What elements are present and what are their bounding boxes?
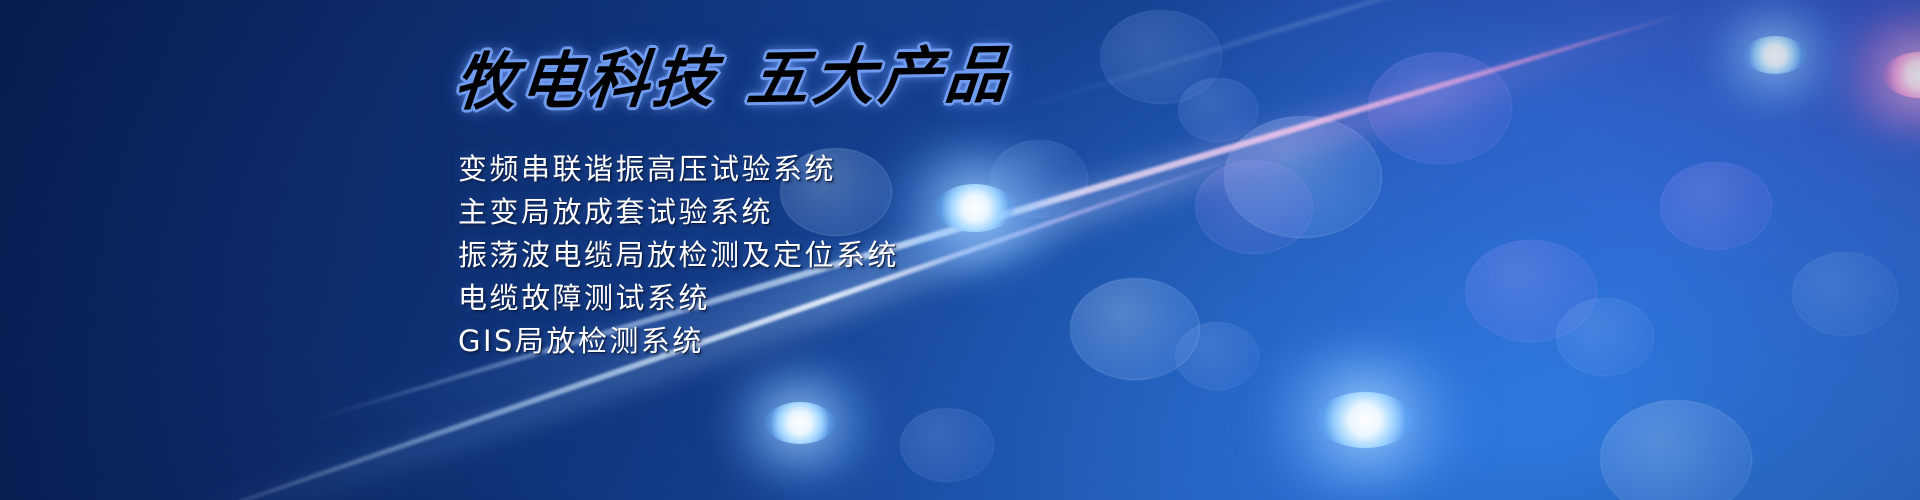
product-list: 变频串联谐振高压试验系统 主变局放成套试验系统 振荡波电缆局放检测及定位系统 电… — [458, 148, 899, 363]
product-list-item[interactable]: 电缆故障测试系统 — [458, 277, 899, 320]
product-list-item[interactable]: 变频串联谐振高压试验系统 — [458, 148, 899, 191]
banner-content: 牧电科技五大产品 变频串联谐振高压试验系统 主变局放成套试验系统 振荡波电缆局放… — [0, 0, 1920, 500]
headline-part-subject: 五大产品 — [744, 38, 1015, 115]
banner-headline: 牧电科技五大产品 — [452, 44, 1014, 114]
product-list-item[interactable]: 振荡波电缆局放检测及定位系统 — [458, 234, 899, 277]
product-list-item[interactable]: 主变局放成套试验系统 — [458, 191, 899, 234]
product-banner: 牧电科技五大产品 变频串联谐振高压试验系统 主变局放成套试验系统 振荡波电缆局放… — [0, 0, 1920, 500]
headline-part-brand: 牧电科技 — [451, 42, 722, 119]
product-list-item[interactable]: GIS局放检测系统 — [458, 320, 899, 363]
